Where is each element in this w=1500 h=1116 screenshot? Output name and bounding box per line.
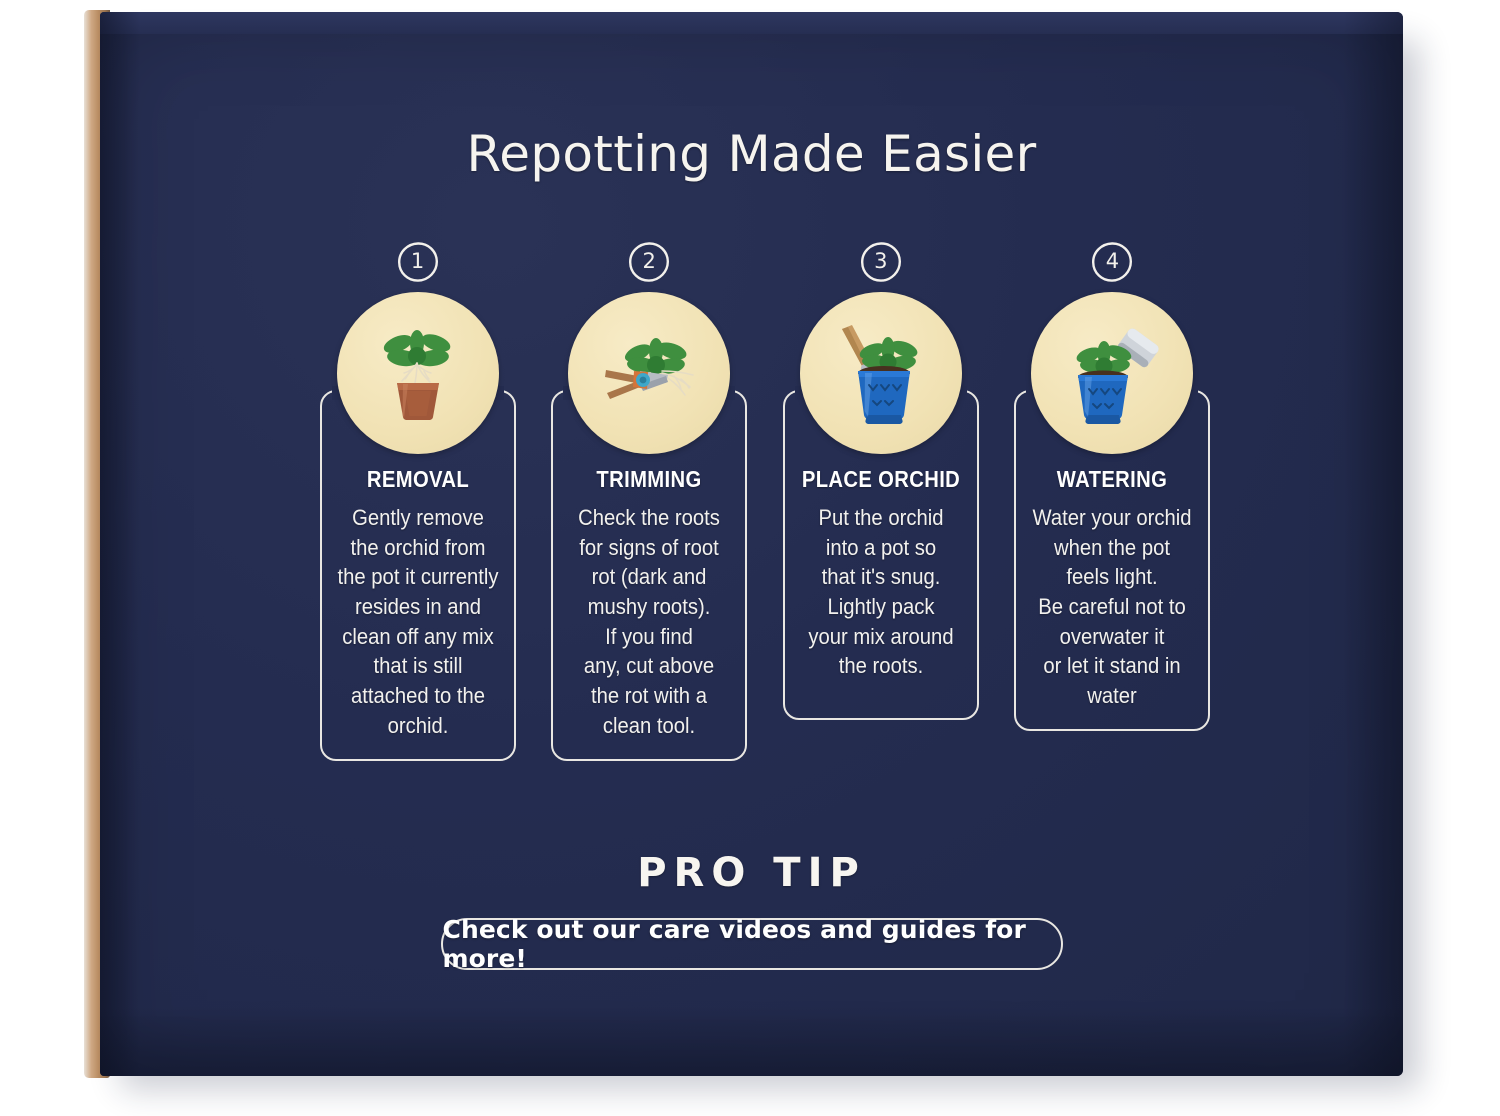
- step-1: 1: [315, 240, 520, 761]
- step-illustration-3: [800, 292, 962, 454]
- step-number-badge-1: 1: [396, 240, 440, 284]
- product-box-back-panel: Repotting Made Easier 1: [100, 12, 1403, 1076]
- step-illustration-2: [568, 292, 730, 454]
- step-number-text-4: 4: [1106, 251, 1119, 272]
- step-number-badge-2: 2: [627, 240, 671, 284]
- step-title-1: REMOVAL: [338, 466, 496, 493]
- step-illustration-4: [1031, 292, 1193, 454]
- step-4: 4: [1010, 240, 1215, 761]
- pro-tip-heading: PRO TIP: [100, 850, 1403, 896]
- step-number-text-2: 2: [642, 251, 655, 272]
- box-left-shading: [100, 12, 140, 1076]
- orchid-in-blue-pot-with-trowel-icon: [818, 311, 944, 435]
- step-body-2: Check the roots for signs of root rot (d…: [568, 503, 730, 741]
- box-right-shading: [1343, 12, 1403, 1076]
- step-number-badge-4: 4: [1090, 240, 1134, 284]
- pro-tip-banner: Check out our care videos and guides for…: [441, 918, 1063, 970]
- step-title-4: WATERING: [1033, 466, 1191, 493]
- step-illustration-1: [337, 292, 499, 454]
- steps-row: 1: [315, 240, 1215, 761]
- box-bottom-shading: [100, 1006, 1403, 1076]
- step-number-badge-3: 3: [859, 240, 903, 284]
- step-title-3: PLACE ORCHID: [802, 466, 960, 493]
- step-number-text-3: 3: [874, 251, 887, 272]
- step-2: 2: [547, 240, 752, 761]
- orchid-lifted-from-terracotta-pot-icon: [358, 313, 478, 433]
- screenshot-stage: Repotting Made Easier 1: [0, 0, 1500, 1116]
- step-body-3: Put the orchid into a pot so that it's s…: [800, 503, 962, 681]
- step-3: 3: [778, 240, 983, 761]
- pruning-shears-trimming-roots-icon: [586, 313, 712, 433]
- pro-tip-banner-text: Check out our care videos and guides for…: [443, 915, 1061, 973]
- step-body-1: Gently remove the orchid from the pot it…: [337, 503, 499, 741]
- step-body-4: Water your orchid when the pot feels lig…: [1031, 503, 1193, 711]
- printed-artwork: Repotting Made Easier 1: [100, 12, 1403, 1076]
- page-title: Repotting Made Easier: [100, 125, 1403, 183]
- step-title-2: TRIMMING: [570, 466, 728, 493]
- step-number-text-1: 1: [411, 251, 424, 272]
- watering-can-over-blue-pot-icon: [1049, 311, 1175, 435]
